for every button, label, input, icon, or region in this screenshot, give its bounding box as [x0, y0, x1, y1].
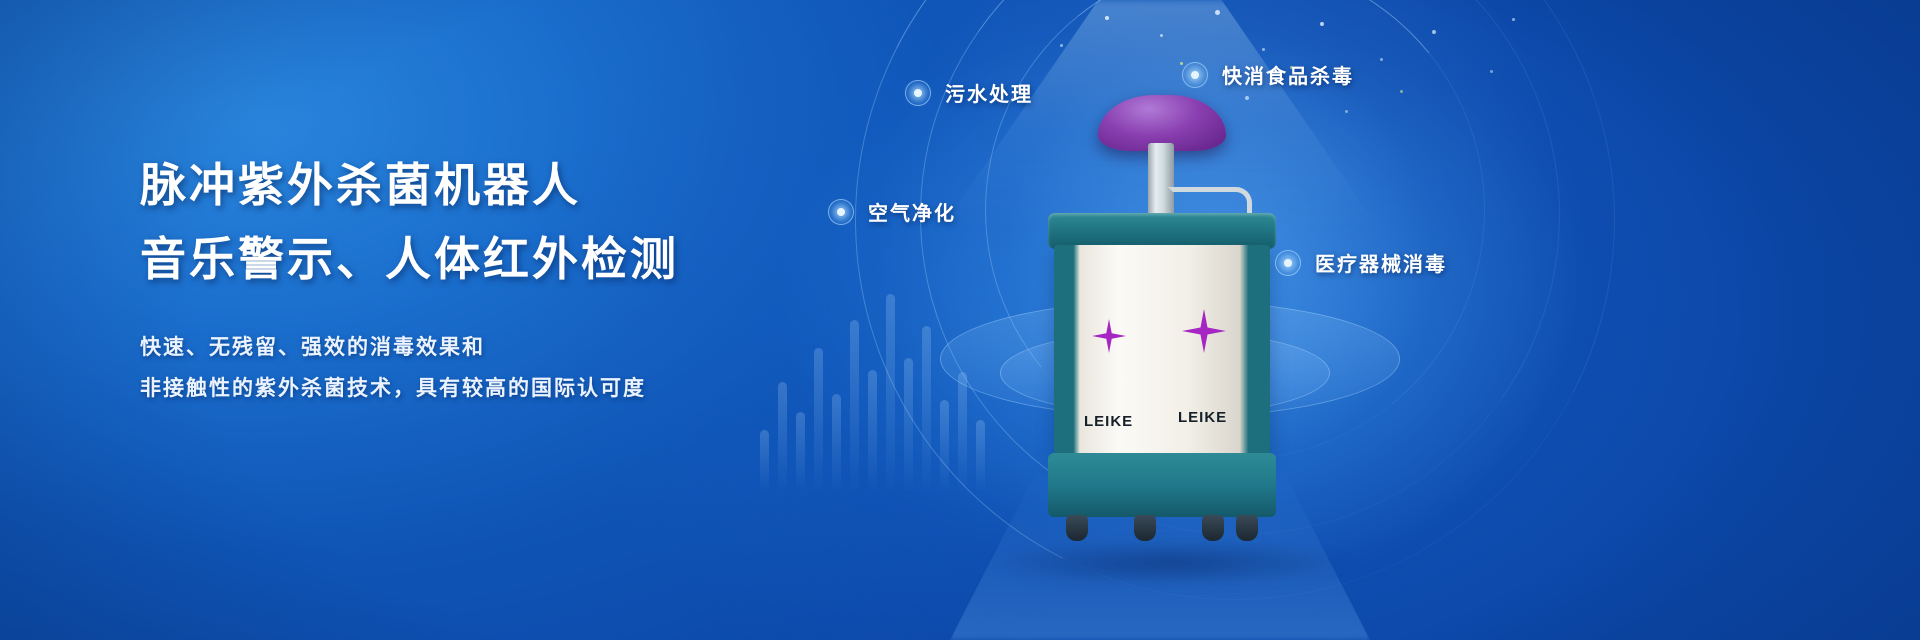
- feature-label: 快消食品杀毒: [1222, 60, 1354, 89]
- device-wheel: [1202, 515, 1224, 541]
- feature-callout-wastewater[interactable]: 污水处理: [905, 78, 1033, 107]
- headline-line-2: 音乐警示、人体红外检测: [140, 222, 860, 296]
- headline-line-1: 脉冲紫外杀菌机器人: [140, 148, 860, 222]
- feature-callout-food-sterilization[interactable]: 快消食品杀毒: [1182, 60, 1354, 89]
- subtitle-line-1: 快速、无残留、强效的消毒效果和: [140, 326, 860, 367]
- uv-robot-device: LEIKE LEIKE: [1030, 95, 1290, 575]
- subtitle-line-2: 非接触性的紫外杀菌技术，具有较高的国际认可度: [140, 367, 860, 408]
- sparkle-dot: [1215, 10, 1220, 15]
- ring-node-icon: [905, 80, 931, 106]
- sparkle-dot: [1345, 110, 1348, 113]
- hero-banner: LEIKE LEIKE 污水处理 快消食品杀毒 空气净化 医疗器械消毒 脉冲紫外…: [0, 0, 1920, 640]
- sparkle-dot: [1380, 58, 1383, 61]
- sparkle-dot: [1060, 44, 1063, 47]
- sparkle-dot: [1512, 18, 1515, 21]
- device-body: LEIKE LEIKE: [1054, 245, 1270, 455]
- device-wheel: [1066, 515, 1088, 541]
- brand-label-right: LEIKE: [1178, 409, 1227, 426]
- sparkle-dot: [1262, 48, 1265, 51]
- feature-label: 污水处理: [945, 78, 1033, 107]
- feature-label: 医疗器械消毒: [1315, 248, 1447, 277]
- sparkle-star-icon: [1092, 319, 1126, 353]
- sparkle-dot: [1400, 90, 1403, 93]
- sparkle-star-icon: [1182, 309, 1226, 353]
- ring-node-icon: [1275, 250, 1301, 276]
- device-wheel: [1236, 515, 1258, 541]
- sparkle-dot: [1105, 16, 1109, 20]
- brand-label-left: LEIKE: [1084, 413, 1133, 430]
- hero-copy: 脉冲紫外杀菌机器人 音乐警示、人体红外检测 快速、无残留、强效的消毒效果和 非接…: [140, 148, 860, 408]
- sparkle-dot: [1320, 22, 1324, 26]
- sparkle-dot: [1160, 34, 1163, 37]
- sparkle-dot: [1490, 70, 1493, 73]
- sparkle-dot: [1432, 30, 1436, 34]
- feature-label: 空气净化: [868, 197, 956, 226]
- device-wheel: [1134, 515, 1156, 541]
- ring-node-icon: [1182, 62, 1208, 88]
- device-top-cap: [1048, 213, 1276, 249]
- device-base: [1048, 453, 1276, 517]
- feature-callout-medical-device-disinfection[interactable]: 医疗器械消毒: [1275, 248, 1447, 277]
